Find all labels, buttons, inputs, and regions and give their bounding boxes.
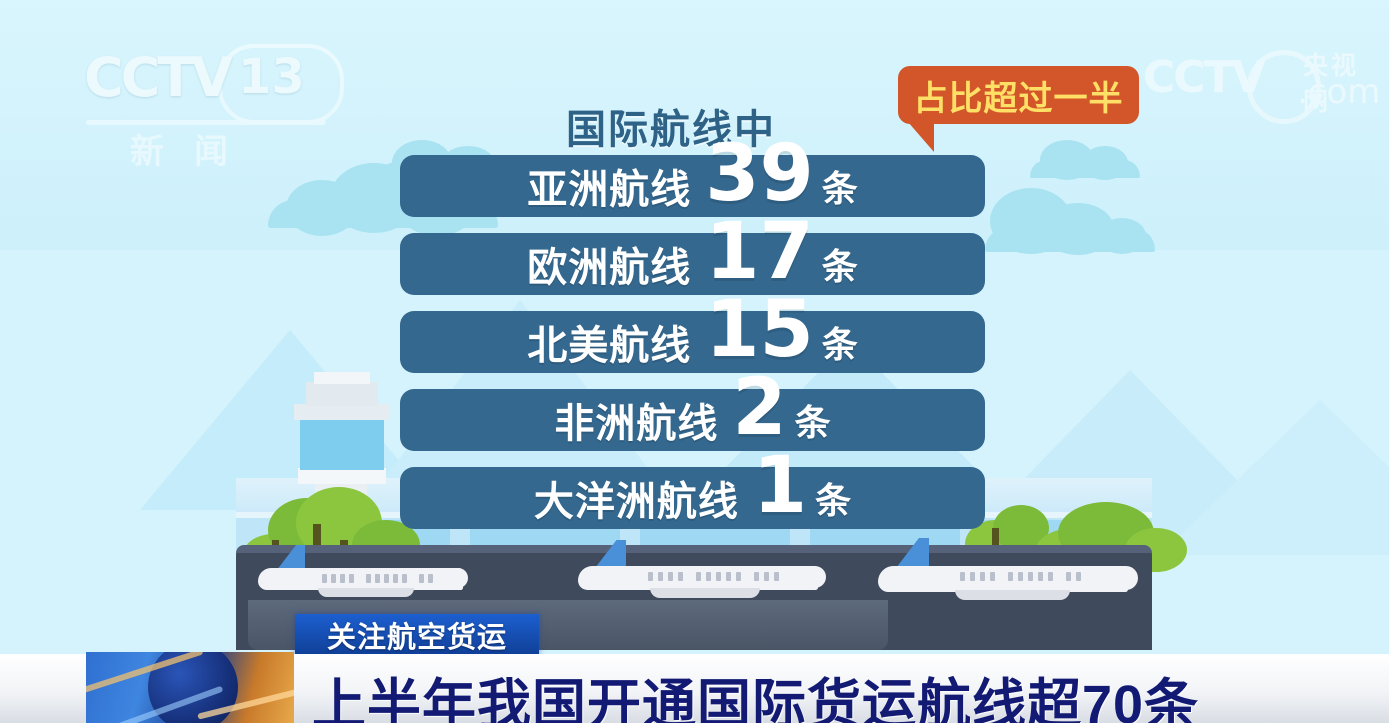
route-label-north-america: 北美航线 <box>527 313 691 371</box>
logo-subtitle: 新闻 <box>130 124 258 173</box>
lower-third-kicker: 关注航空货运 <box>295 614 539 656</box>
watermark-com-text: .com <box>1297 72 1380 112</box>
news-globe-graphic <box>86 652 294 723</box>
logo-cctv-text: CCTV <box>84 46 230 109</box>
logo-channel-number: 13 <box>238 49 305 105</box>
route-row-oceania: 大洋洲航线 1 条 <box>400 467 990 529</box>
route-unit-asia: 条 <box>822 160 858 212</box>
headline-text: 上半年我国开通国际货运航线超70条 <box>312 660 1199 723</box>
cctv13-logo: CCTV 13 新闻 <box>80 44 345 149</box>
tarmac-edge <box>236 545 1152 553</box>
route-bar-list: 亚洲航线 39 条 欧洲航线 17 条 北美航线 15 条 非洲 <box>400 155 990 545</box>
route-row-europe: 欧洲航线 17 条 <box>400 233 990 295</box>
broadcast-frame: CCTV 13 新闻 CCTV 央视网 .com 国际航线中 占比超过一半 亚洲… <box>0 0 1389 723</box>
callout-badge: 占比超过一半 <box>898 66 1139 124</box>
cctv-com-watermark: CCTV 央视网 .com <box>1143 46 1383 116</box>
route-label-oceania: 大洋洲航线 <box>534 469 739 527</box>
route-value-europe: 17 <box>705 221 814 283</box>
watermark-cctv-text: CCTV <box>1143 52 1264 103</box>
route-value-north-america: 15 <box>705 299 814 361</box>
route-unit-oceania: 条 <box>815 472 851 524</box>
route-label-asia: 亚洲航线 <box>527 157 691 215</box>
route-row-africa: 非洲航线 2 条 <box>400 389 990 451</box>
route-row-north-america: 北美航线 15 条 <box>400 311 990 373</box>
route-value-africa: 2 <box>732 377 786 439</box>
route-value-oceania: 1 <box>753 455 807 517</box>
route-value-asia: 39 <box>705 143 814 205</box>
kicker-text: 关注航空货运 <box>327 614 507 656</box>
route-unit-europe: 条 <box>822 238 858 290</box>
callout-tail-shape <box>908 122 934 152</box>
route-label-africa: 非洲航线 <box>554 391 718 449</box>
route-unit-africa: 条 <box>795 394 831 446</box>
route-label-europe: 欧洲航线 <box>527 235 691 293</box>
callout-text: 占比超过一半 <box>914 71 1124 120</box>
route-row-asia: 亚洲航线 39 条 <box>400 155 990 217</box>
route-unit-north-america: 条 <box>822 316 858 368</box>
